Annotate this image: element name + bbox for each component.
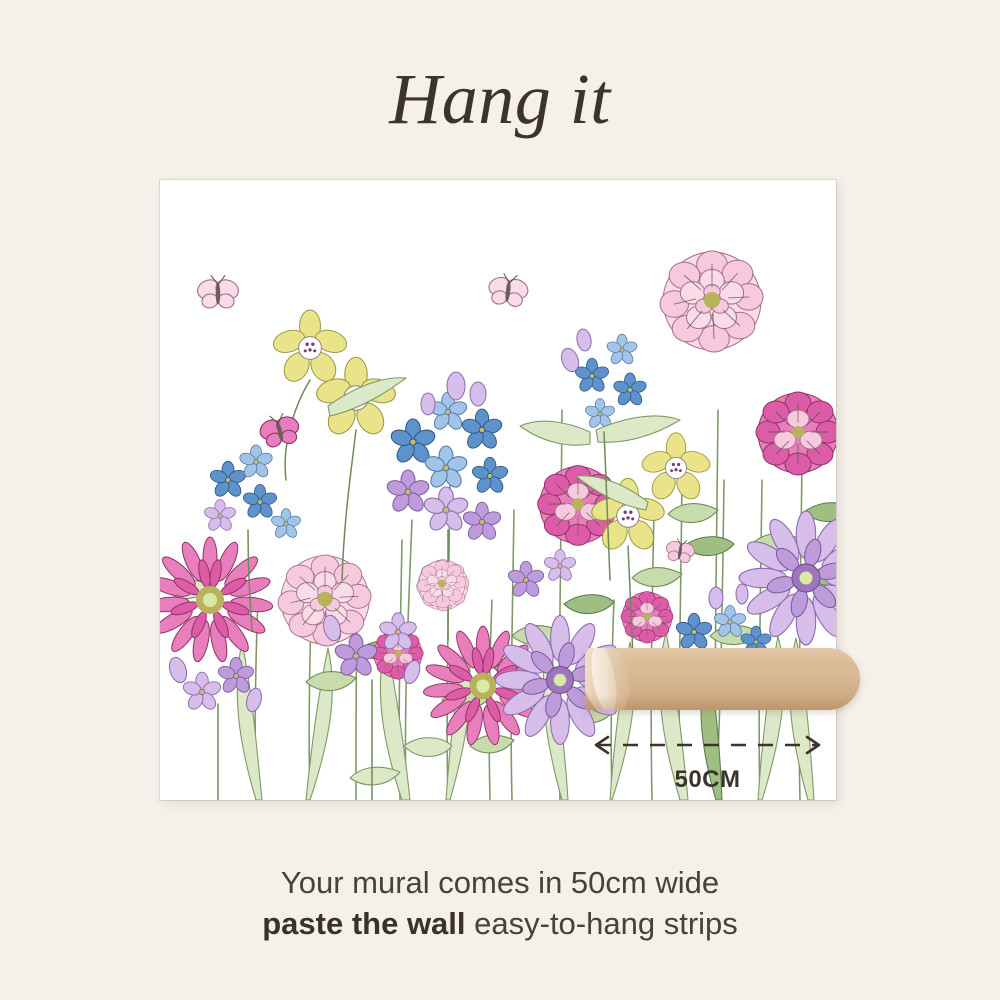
page-root: Hang it .ink{stroke:#4A3F3A;stroke-width… [0,0,1000,1000]
width-measurement-arrow [580,732,835,758]
flower-dahlia-pink [660,251,763,352]
caption-line-2-rest: easy-to-hang strips [466,906,738,941]
caption-bold-phrase: paste the wall [262,906,465,941]
flower-rose-pale-2 [418,560,466,608]
width-measurement-label: 50CM [580,766,835,794]
flower-peony-magenta [756,392,836,475]
caption-line-2: paste the wall easy-to-hang strips [0,903,1000,944]
paper-roll-shadow [585,694,860,710]
dashed-double-arrow-icon [580,732,835,758]
flower-peony-magenta-3 [621,592,673,643]
page-title: Hang it [0,58,1000,141]
caption-block: Your mural comes in 50cm wide paste the … [0,862,1000,944]
caption-line-1: Your mural comes in 50cm wide [281,865,719,900]
paper-roll [585,648,860,710]
